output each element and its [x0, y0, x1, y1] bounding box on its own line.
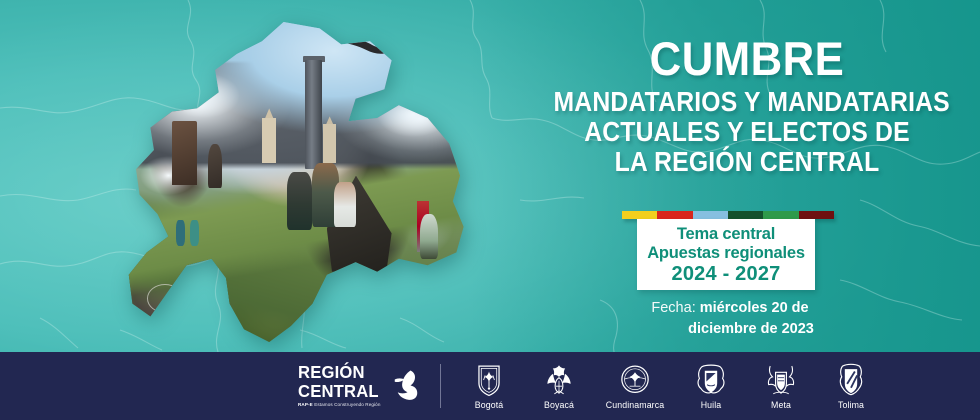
- tourist-person: [176, 220, 185, 246]
- page-title: CUMBRE: [547, 34, 947, 84]
- tourist-person: [190, 220, 199, 246]
- region-central-logo[interactable]: REGIÓN CENTRAL RAP-E Estamos Construyend…: [298, 364, 418, 407]
- title-wrap: CUMBRE MANDATARIOS Y MANDATARIAS ACTUALE…: [532, 34, 962, 177]
- logo-line-2: CENTRAL: [298, 383, 379, 401]
- shield-meta[interactable]: Meta: [751, 363, 811, 410]
- accent-rule-segment-5: [763, 211, 798, 219]
- bicycle-wheel: [147, 284, 183, 313]
- logo-tagline: RAP-E Estamos Construyendo Región: [298, 403, 383, 408]
- cloud-decor: [168, 73, 240, 118]
- colonial-church: [323, 124, 336, 162]
- subtitle-line-3: LA REGIÓN CENTRAL: [554, 147, 941, 177]
- logo-line-1: REGIÓN: [298, 364, 379, 382]
- page-subtitle: MANDATARIOS Y MANDATARIAS ACTUALES Y ELE…: [554, 87, 941, 177]
- shield-bogota[interactable]: Bogotá: [459, 363, 519, 410]
- region-central-wordmark: REGIÓN CENTRAL RAP-E Estamos Construyend…: [298, 364, 383, 407]
- theme-card-line-2: Apuestas regionales: [647, 244, 805, 263]
- shield-label: Boyacá: [544, 400, 574, 410]
- meta-coat-of-arms-icon: [764, 363, 798, 397]
- accent-rule-segment-3: [693, 211, 728, 219]
- accent-rule-segment-2: [657, 211, 692, 219]
- condor-icon: [334, 32, 428, 61]
- shield-boyaca[interactable]: Boyacá: [529, 363, 589, 410]
- andean-man-hat: [287, 172, 312, 230]
- accent-color-rule: [622, 211, 834, 219]
- shield-label: Meta: [771, 400, 791, 410]
- date-value-line-2: diciembre de 2023: [600, 319, 860, 340]
- shield-tolima[interactable]: Tolima: [821, 363, 881, 410]
- tolima-coat-of-arms-icon: [834, 363, 868, 397]
- hiker-woman: [420, 214, 438, 259]
- boyaca-coat-of-arms-icon: [542, 363, 576, 397]
- theme-card-years: 2024 - 2027: [672, 263, 781, 285]
- colonial-church: [262, 118, 276, 163]
- stone-monolith: [172, 121, 197, 185]
- shield-label: Cundinamarca: [606, 400, 664, 410]
- bird-icon: [388, 369, 418, 403]
- shield-label: Tolima: [838, 400, 864, 410]
- bogota-coat-of-arms-icon: [472, 363, 506, 397]
- department-shields: Bogotá Boyacá: [459, 363, 881, 410]
- event-banner: CUMBRE MANDATARIOS Y MANDATARIAS ACTUALE…: [0, 0, 980, 420]
- central-region-collage: [118, 22, 478, 342]
- logo-tagline-prefix: RAP-E: [298, 402, 313, 407]
- theme-card: Tema central Apuestas regionales 2024 - …: [637, 219, 815, 290]
- accent-rule-segment-6: [799, 211, 834, 219]
- logo-tagline-text: Estamos Construyendo Región: [314, 402, 380, 407]
- subtitle-line-1: MANDATARIOS Y MANDATARIAS: [554, 87, 941, 117]
- shield-huila[interactable]: Huila: [681, 363, 741, 410]
- date-label: Fecha:: [651, 300, 695, 316]
- huila-coat-of-arms-icon: [694, 363, 728, 397]
- theme-card-line-1: Tema central: [677, 225, 775, 244]
- shield-cundinamarca[interactable]: Cundinamarca: [599, 363, 671, 410]
- cundinamarca-coat-of-arms-icon: [618, 363, 652, 397]
- shield-label: Huila: [701, 400, 722, 410]
- subtitle-line-2: ACTUALES Y ELECTOS DE: [554, 117, 941, 147]
- event-date: Fecha: miércoles 20 de diciembre de 2023: [600, 298, 860, 340]
- footer-bar: REGIÓN CENTRAL RAP-E Estamos Construyend…: [0, 352, 980, 420]
- bogota-tower: [305, 60, 322, 169]
- accent-rule-segment-1: [622, 211, 657, 219]
- stone-statue: [208, 144, 222, 189]
- andean-woman: [334, 182, 356, 227]
- cloud-decor: [377, 92, 449, 137]
- date-value-line-1: miércoles 20 de: [700, 300, 809, 316]
- accent-rule-segment-4: [728, 211, 763, 219]
- footer-divider: [440, 364, 441, 408]
- shield-label: Bogotá: [475, 400, 503, 410]
